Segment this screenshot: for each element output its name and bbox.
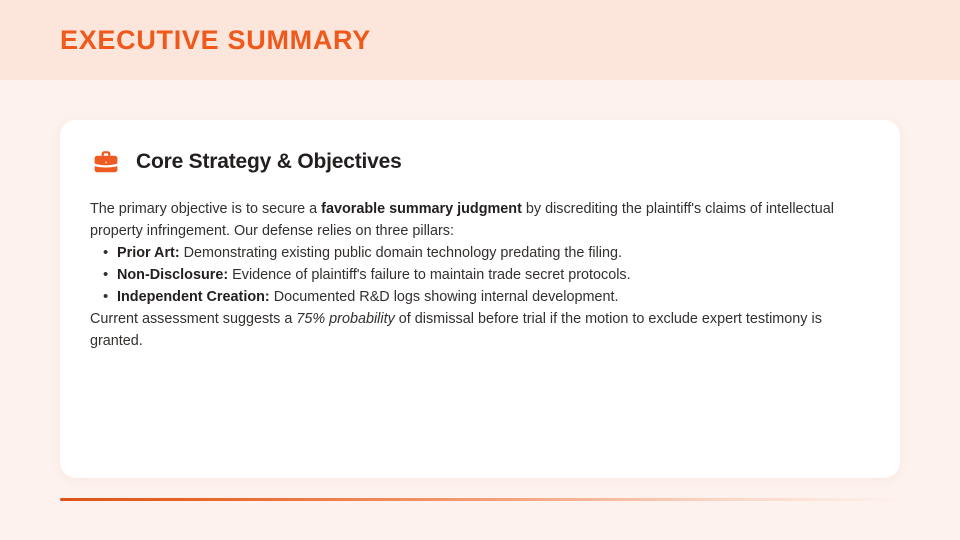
card-title: Core Strategy & Objectives bbox=[136, 150, 402, 173]
page-title: EXECUTIVE SUMMARY bbox=[0, 27, 371, 54]
list-item: Independent Creation: Documented R&D log… bbox=[117, 286, 868, 308]
pillar-text-non-disclosure: Evidence of plaintiff's failure to maint… bbox=[228, 267, 630, 283]
slide-header: EXECUTIVE SUMMARY bbox=[0, 0, 960, 80]
card-header: Core Strategy & Objectives bbox=[90, 146, 868, 178]
briefcase-icon bbox=[90, 146, 122, 178]
paragraph-1-lead: The primary objective is to secure a bbox=[90, 201, 321, 217]
summary-paragraph-primary: The primary objective is to secure a fav… bbox=[90, 198, 868, 242]
content-card: Core Strategy & Objectives The primary o… bbox=[60, 120, 900, 478]
summary-paragraph-assessment: Current assessment suggests a 75% probab… bbox=[90, 308, 868, 352]
pillar-label-prior-art: Prior Art: bbox=[117, 245, 180, 261]
footer-accent-bar bbox=[60, 498, 900, 501]
pillar-label-non-disclosure: Non-Disclosure: bbox=[117, 267, 228, 283]
paragraph-1-emphasis: favorable summary judgment bbox=[321, 201, 522, 217]
list-item: Prior Art: Demonstrating existing public… bbox=[117, 242, 868, 264]
slide-root: EXECUTIVE SUMMARY Core Strategy & Object… bbox=[0, 0, 960, 540]
pillars-list: Prior Art: Demonstrating existing public… bbox=[90, 242, 868, 308]
card-body: The primary objective is to secure a fav… bbox=[90, 198, 868, 352]
paragraph-2-emphasis: 75% probability bbox=[296, 311, 394, 327]
list-item: Non-Disclosure: Evidence of plaintiff's … bbox=[117, 264, 868, 286]
paragraph-2-lead: Current assessment suggests a bbox=[90, 311, 296, 327]
pillar-text-independent-creation: Documented R&D logs showing internal dev… bbox=[270, 289, 619, 305]
pillar-label-independent-creation: Independent Creation: bbox=[117, 289, 270, 305]
pillar-text-prior-art: Demonstrating existing public domain tec… bbox=[180, 245, 622, 261]
